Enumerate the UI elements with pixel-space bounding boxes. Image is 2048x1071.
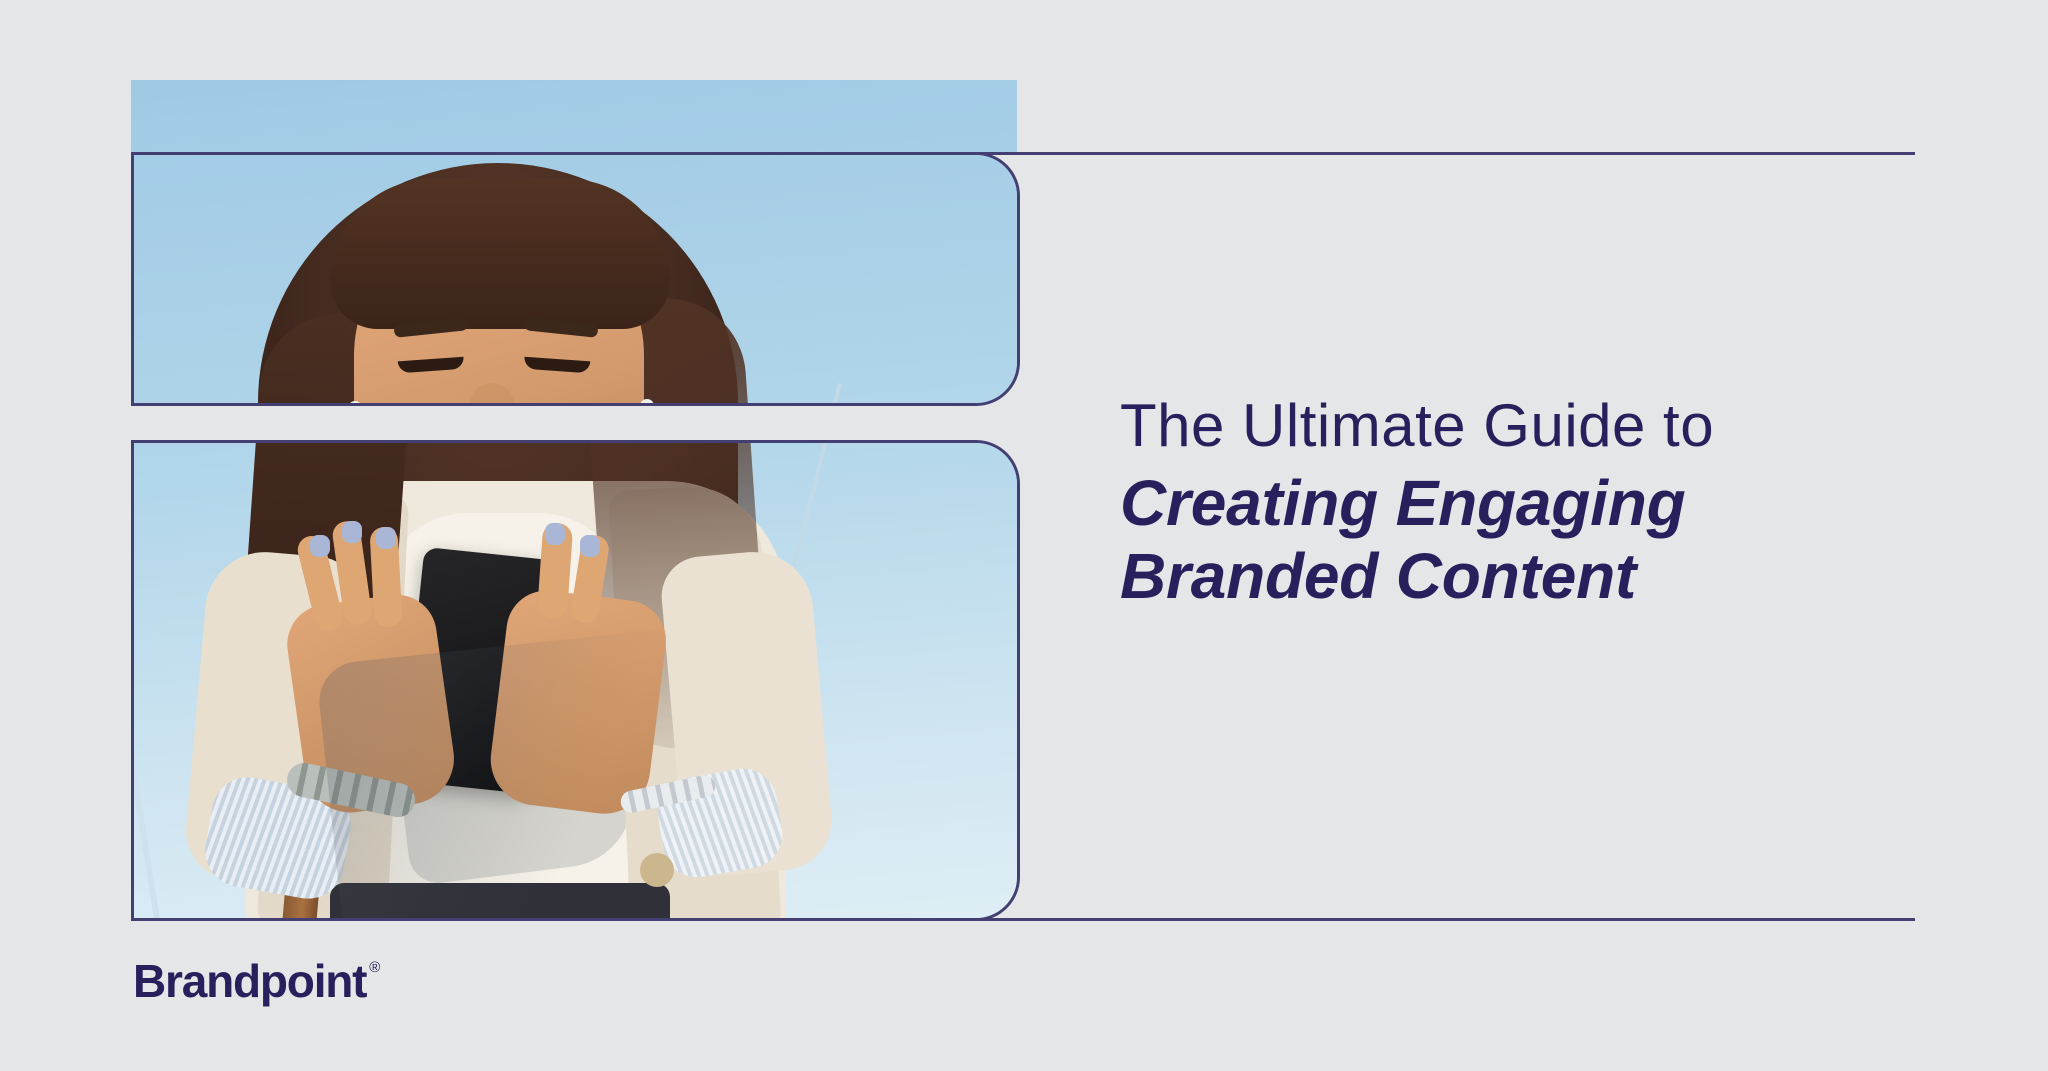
fingernail [310, 535, 330, 557]
registered-trademark-icon: ® [369, 960, 380, 975]
hero-photo-overflow [131, 80, 1017, 155]
lower-photo-panel [131, 440, 1020, 921]
earring-right [640, 399, 654, 406]
sky-background [131, 80, 1017, 155]
hair-fringe [330, 179, 670, 329]
upper-photo-clip [134, 155, 1017, 403]
photo-overflow-top [131, 60, 1020, 155]
upper-photo-panel [131, 152, 1020, 406]
lower-photo-clip [134, 443, 1017, 918]
logo-wordmark: Brandpoint [133, 958, 366, 1004]
headline-line-3: Branded Content [1120, 540, 1940, 612]
fingernail [342, 521, 362, 543]
fingernail [580, 535, 600, 557]
hero-photo-lower [131, 440, 1020, 921]
slide-canvas: The Ultimate Guide to Creating Engaging … [0, 0, 2048, 1071]
headline-block: The Ultimate Guide to Creating Engaging … [1120, 392, 1940, 612]
brandpoint-logo: Brandpoint ® [133, 958, 380, 1004]
hero-photo-upper [131, 152, 1020, 406]
headline-line-2: Creating Engaging [1120, 467, 1940, 539]
fingernail [545, 523, 565, 545]
fingernail [376, 527, 396, 549]
photo-shadow [315, 622, 764, 921]
headline-line-1: The Ultimate Guide to [1120, 392, 1940, 459]
